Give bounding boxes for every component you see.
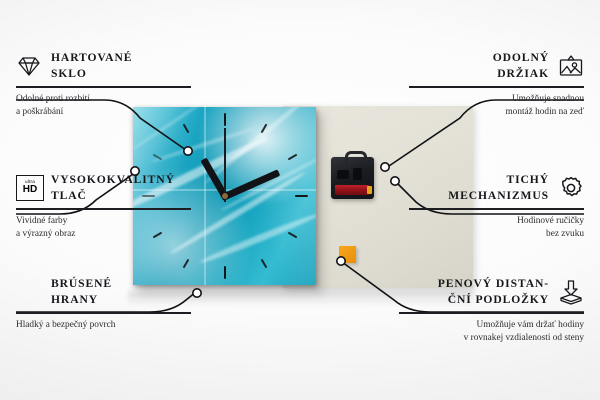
feature-title: BRÚSENÉ HRANY	[51, 276, 112, 307]
divider	[16, 312, 191, 313]
clock-center-pin	[222, 193, 228, 199]
battery	[335, 185, 369, 195]
feature-title: PENOVÝ DISTAN- ČNÍ PODLOŽKY	[438, 276, 549, 307]
divider	[399, 312, 584, 313]
feature-header: BRÚSENÉ HRANY	[16, 276, 191, 307]
ultra-hd-icon: ultra HD	[16, 175, 42, 201]
hour-tick	[224, 113, 226, 126]
feature-high-quality-print: ultra HD VYSOKOKVALITNÝ TLAČ Vividné far…	[16, 172, 191, 241]
clock-mechanism	[331, 157, 374, 199]
divider	[16, 86, 191, 87]
hanger-loop-icon	[345, 151, 367, 164]
divider	[16, 208, 191, 209]
diagonal-stripes-icon	[16, 279, 42, 305]
hour-tick	[295, 195, 308, 197]
divider	[409, 208, 584, 209]
diamond-icon	[16, 53, 42, 79]
feature-title: HARTOVANÉ SKLO	[51, 50, 132, 81]
feature-title: ODOLNÝ DRŽIAK	[493, 50, 549, 81]
gear-icon	[558, 175, 584, 201]
feature-description: Umožňuje snadnou montáž hodin na zeď	[409, 93, 584, 119]
feature-header: ODOLNÝ DRŽIAK	[409, 50, 584, 81]
divider	[409, 86, 584, 87]
infographic-canvas: HARTOVANÉ SKLO Odolné proti rozbití a po…	[0, 0, 600, 400]
feature-description: Umožňuje vám držať hodiny v rovnakej vzd…	[399, 319, 584, 345]
feature-description: Hodinové ručičky bez zvuku	[409, 215, 584, 241]
feature-description: Hladký a bezpečný povrch	[16, 319, 191, 332]
feature-header: TICHÝ MECHANIZMUS	[409, 172, 584, 203]
mechanism-knob	[337, 170, 349, 179]
feature-tempered-glass: HARTOVANÉ SKLO Odolné proti rozbití a po…	[16, 50, 191, 119]
feature-ground-edges: BRÚSENÉ HRANY Hladký a bezpečný povrch	[16, 276, 191, 332]
glass-reflection-line	[204, 107, 206, 285]
feature-description: Vividné farby a výrazný obraz	[16, 215, 191, 241]
feature-silent-mechanism: TICHÝ MECHANIZMUS Hodinové ručičky bez z…	[409, 172, 584, 241]
second-hand	[224, 128, 226, 202]
feature-header: HARTOVANÉ SKLO	[16, 50, 191, 81]
press-down-pads-icon	[558, 279, 584, 305]
picture-frame-hanger-icon	[558, 53, 584, 79]
feature-title: VYSOKOKVALITNÝ TLAČ	[51, 172, 175, 203]
feature-durable-hanger: ODOLNÝ DRŽIAK Umožňuje snadnou montáž ho…	[409, 50, 584, 119]
ultra-hd-large-text: HD	[23, 185, 37, 195]
mechanism-knob	[353, 168, 362, 180]
feature-title: TICHÝ MECHANIZMUS	[448, 172, 549, 203]
feature-header: ultra HD VYSOKOKVALITNÝ TLAČ	[16, 172, 191, 203]
battery-terminal	[367, 186, 372, 194]
feature-description: Odolné proti rozbití a poškrábání	[16, 93, 191, 119]
feature-header: PENOVÝ DISTAN- ČNÍ PODLOŽKY	[399, 276, 584, 307]
feature-foam-spacers: PENOVÝ DISTAN- ČNÍ PODLOŽKY Umožňuje vám…	[399, 276, 584, 345]
hour-tick	[224, 266, 226, 279]
foam-spacer-pad	[339, 246, 356, 263]
